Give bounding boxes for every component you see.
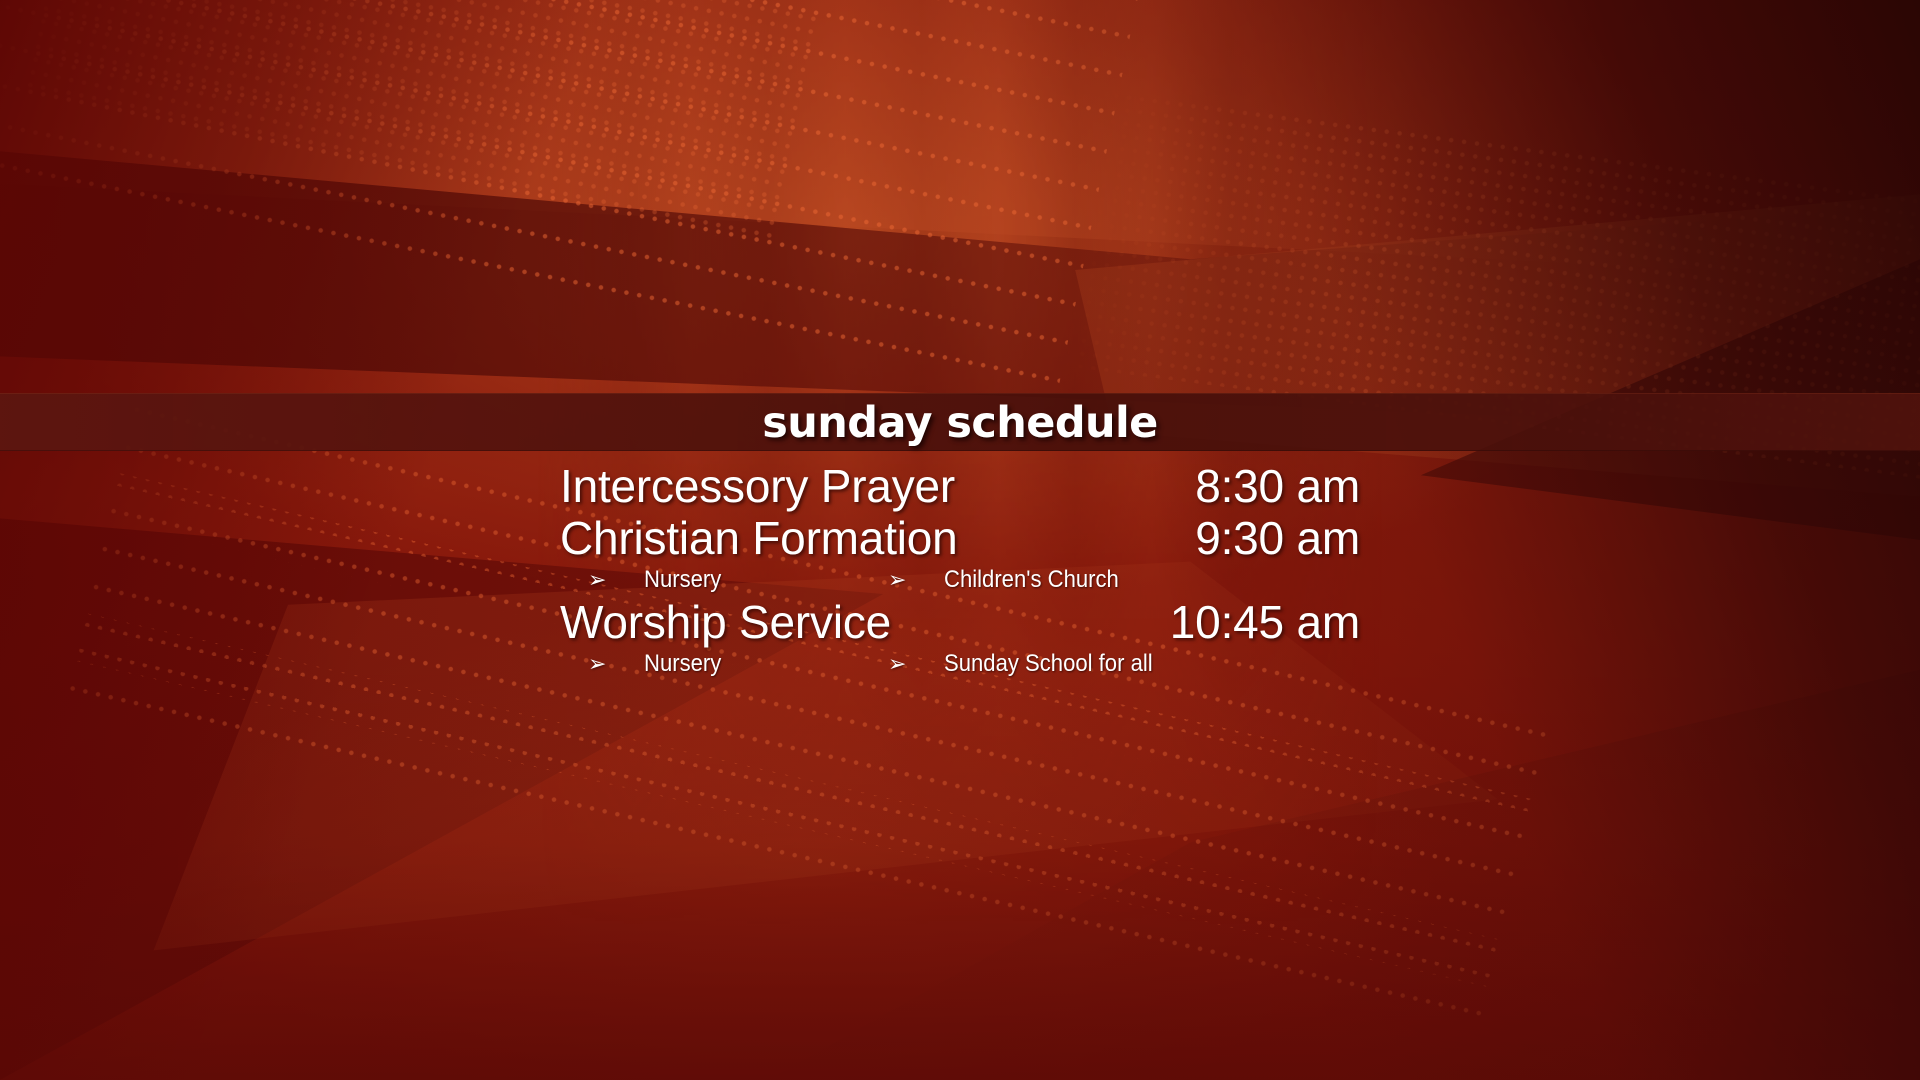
arrow-bullet-icon: ➢ — [588, 649, 644, 681]
arrow-bullet-icon: ➢ — [888, 565, 944, 597]
schedule-subitem-label: Nursery — [644, 564, 721, 596]
schedule-subitem: ➢ Nursery — [588, 564, 888, 597]
schedule-row: Christian Formation 9:30 am — [560, 512, 1360, 564]
schedule-subitem-row: ➢ Nursery ➢ Children's Church — [560, 564, 1360, 596]
service-time: 10:45 am — [1170, 596, 1360, 648]
service-name: Worship Service — [560, 596, 891, 648]
schedule-row: Worship Service 10:45 am — [560, 596, 1360, 648]
presentation-slide: sunday schedule Intercessory Prayer 8:30… — [0, 0, 1920, 1080]
service-name: Intercessory Prayer — [560, 460, 955, 512]
title-band: sunday schedule — [0, 393, 1920, 451]
schedule-subitem: ➢ Sunday School for all — [888, 648, 1248, 681]
schedule-subitem-label: Nursery — [644, 648, 721, 680]
schedule-list: Intercessory Prayer 8:30 am Christian Fo… — [560, 460, 1360, 680]
slide-title: sunday schedule — [762, 402, 1157, 445]
schedule-subitem-label: Sunday School for all — [944, 648, 1153, 680]
service-time: 9:30 am — [1195, 512, 1360, 564]
service-name: Christian Formation — [560, 512, 958, 564]
schedule-subitem: ➢ Nursery — [588, 648, 888, 681]
schedule-subitem: ➢ Children's Church — [888, 564, 1248, 597]
schedule-row: Intercessory Prayer 8:30 am — [560, 460, 1360, 512]
arrow-bullet-icon: ➢ — [588, 565, 644, 597]
schedule-subitem-label: Children's Church — [944, 564, 1119, 596]
schedule-subitem-row: ➢ Nursery ➢ Sunday School for all — [560, 648, 1360, 680]
arrow-bullet-icon: ➢ — [888, 649, 944, 681]
service-time: 8:30 am — [1195, 460, 1360, 512]
